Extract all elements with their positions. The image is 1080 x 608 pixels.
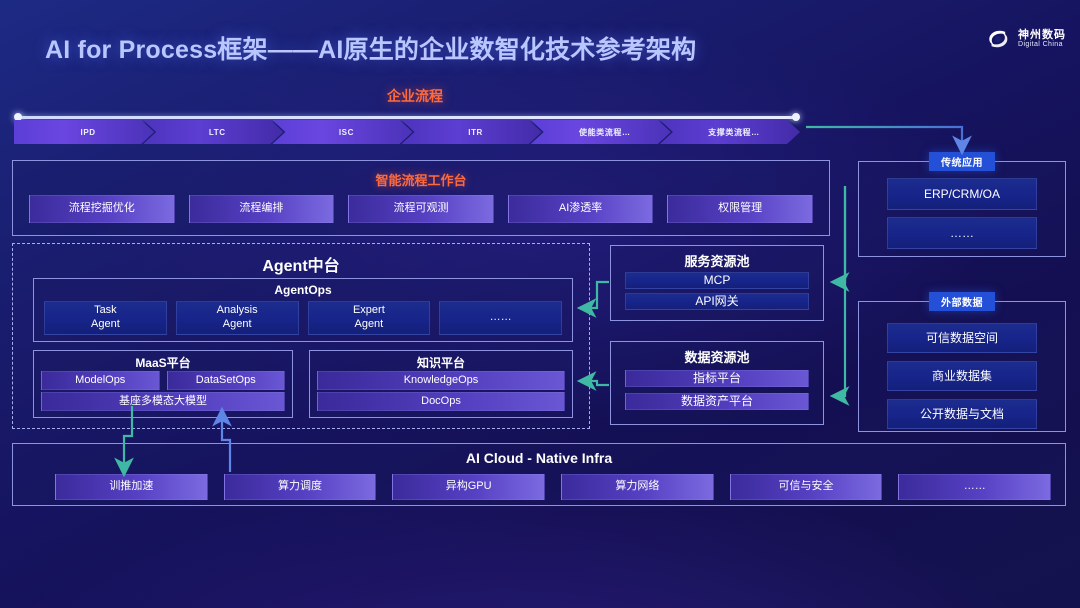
workbench-item[interactable]: 流程编排 [189, 195, 335, 223]
workbench-item-list: 流程挖掘优化流程编排流程可观测AI渗透率权限管理 [29, 195, 813, 223]
intelligent-process-workbench: 智能流程工作台 流程挖掘优化流程编排流程可观测AI渗透率权限管理 [12, 160, 830, 236]
process-track-line [18, 116, 796, 119]
process-step[interactable]: 使能类流程… [531, 120, 671, 144]
service-pool-item[interactable]: MCP [625, 272, 809, 289]
agentops-item[interactable]: ExpertAgent [308, 301, 431, 335]
knowledge-row-2: DocOps [317, 392, 565, 411]
connector-external-to-data-pool [833, 186, 845, 396]
knowledge-item[interactable]: DocOps [317, 392, 565, 411]
process-step[interactable]: ISC [272, 120, 412, 144]
data-pool-item[interactable]: 指标平台 [625, 370, 809, 387]
process-flow-title: 企业流程 [0, 86, 1080, 106]
knowledge-title: 知识平台 [310, 354, 572, 371]
slide-root: AI for Process框架——AI原生的企业数智化技术参考架构 神州数码 … [0, 0, 1080, 608]
connector-flow-to-traditional-apps [806, 127, 962, 152]
process-step-label: 支撑类流程… [708, 127, 760, 138]
process-step-label: 使能类流程… [579, 127, 631, 138]
workbench-item[interactable]: 权限管理 [667, 195, 813, 223]
maas-row-1: ModelOpsDataSetOps [41, 371, 285, 390]
data-resource-pool: 数据资源池 指标平台数据资产平台 [610, 341, 824, 425]
infra-item[interactable]: 异构GPU [392, 474, 545, 500]
process-step[interactable]: IPD [14, 120, 154, 144]
process-step-label: LTC [209, 128, 226, 137]
infra-item-list: 训推加速算力调度异构GPU算力网络可信与安全…… [55, 474, 1051, 500]
infra-item[interactable]: 可信与安全 [730, 474, 883, 500]
traditional-apps-tag: 传统应用 [929, 152, 995, 171]
maas-row-2: 基座多模态大模型 [41, 392, 285, 411]
logo-text-cn: 神州数码 [1018, 30, 1066, 42]
process-step-label: ISC [339, 128, 354, 137]
process-step-label: ITR [468, 128, 483, 137]
maas-item[interactable]: DataSetOps [167, 371, 286, 390]
swirl-logo-icon [985, 26, 1011, 52]
agent-platform-title: Agent中台 [13, 252, 589, 276]
external-data-item[interactable]: 公开数据与文档 [887, 399, 1037, 429]
workbench-item[interactable]: 流程挖掘优化 [29, 195, 175, 223]
traditional-app-item[interactable]: ERP/CRM/OA [887, 178, 1037, 210]
workbench-item[interactable]: 流程可观测 [348, 195, 494, 223]
maas-title: MaaS平台 [34, 354, 292, 371]
data-pool-title: 数据资源池 [611, 347, 823, 366]
knowledge-row-1: KnowledgeOps [317, 371, 565, 390]
traditional-apps-panel: 传统应用 ERP/CRM/OA…… [858, 161, 1066, 257]
infra-item[interactable]: …… [898, 474, 1051, 500]
external-data-item-list: 可信数据空间商业数据集公开数据与文档 [887, 323, 1037, 429]
process-step[interactable]: ITR [402, 120, 542, 144]
traditional-apps-item-list: ERP/CRM/OA…… [887, 178, 1037, 249]
knowledge-item[interactable]: KnowledgeOps [317, 371, 565, 390]
agent-middle-platform: Agent中台 AgentOps TaskAgentAnalysisAgentE… [12, 243, 590, 429]
agentops-item[interactable]: …… [439, 301, 562, 335]
process-step[interactable]: LTC [143, 120, 283, 144]
external-data-item[interactable]: 商业数据集 [887, 361, 1037, 391]
logo-text-en: Digital China [1018, 41, 1066, 48]
data-pool-item[interactable]: 数据资产平台 [625, 393, 809, 410]
knowledge-platform-panel: 知识平台 KnowledgeOps DocOps [309, 350, 573, 418]
infra-item[interactable]: 训推加速 [55, 474, 208, 500]
service-resource-pool: 服务资源池 MCPAPI网关 [610, 245, 824, 321]
agentops-panel: AgentOps TaskAgentAnalysisAgentExpertAge… [33, 278, 573, 342]
maas-platform-panel: MaaS平台 ModelOpsDataSetOps 基座多模态大模型 [33, 350, 293, 418]
service-pool-title: 服务资源池 [611, 251, 823, 270]
service-pool-item[interactable]: API网关 [625, 293, 809, 310]
agentops-item[interactable]: TaskAgent [44, 301, 167, 335]
maas-item[interactable]: ModelOps [41, 371, 160, 390]
infra-item[interactable]: 算力网络 [561, 474, 714, 500]
page-title: AI for Process框架——AI原生的企业数智化技术参考架构 [45, 30, 696, 66]
infra-title: AI Cloud - Native Infra [13, 450, 1065, 466]
external-data-item[interactable]: 可信数据空间 [887, 323, 1037, 353]
brand-logo: 神州数码 Digital China [985, 26, 1066, 52]
infra-item[interactable]: 算力调度 [224, 474, 377, 500]
agentops-item-list: TaskAgentAnalysisAgentExpertAgent…… [44, 301, 562, 335]
external-data-panel: 外部数据 可信数据空间商业数据集公开数据与文档 [858, 301, 1066, 432]
ai-cloud-native-infra: AI Cloud - Native Infra 训推加速算力调度异构GPU算力网… [12, 443, 1066, 506]
agentops-title: AgentOps [34, 283, 572, 297]
process-flow-title-text: 企业流程 [387, 86, 443, 106]
workbench-title: 智能流程工作台 [13, 170, 829, 189]
service-pool-item-list: MCPAPI网关 [625, 272, 809, 310]
data-pool-item-list: 指标平台数据资产平台 [625, 370, 809, 410]
agentops-item[interactable]: AnalysisAgent [176, 301, 299, 335]
maas-item[interactable]: 基座多模态大模型 [41, 392, 285, 411]
traditional-app-item[interactable]: …… [887, 217, 1037, 249]
process-step-list: IPDLTCISCITR使能类流程…支撑类流程… [14, 120, 800, 144]
external-data-tag: 外部数据 [929, 292, 995, 311]
process-step[interactable]: 支撑类流程… [660, 120, 800, 144]
connector-traditional-to-service-pool [833, 186, 845, 282]
workbench-item[interactable]: AI渗透率 [508, 195, 654, 223]
process-step-label: IPD [81, 128, 96, 137]
